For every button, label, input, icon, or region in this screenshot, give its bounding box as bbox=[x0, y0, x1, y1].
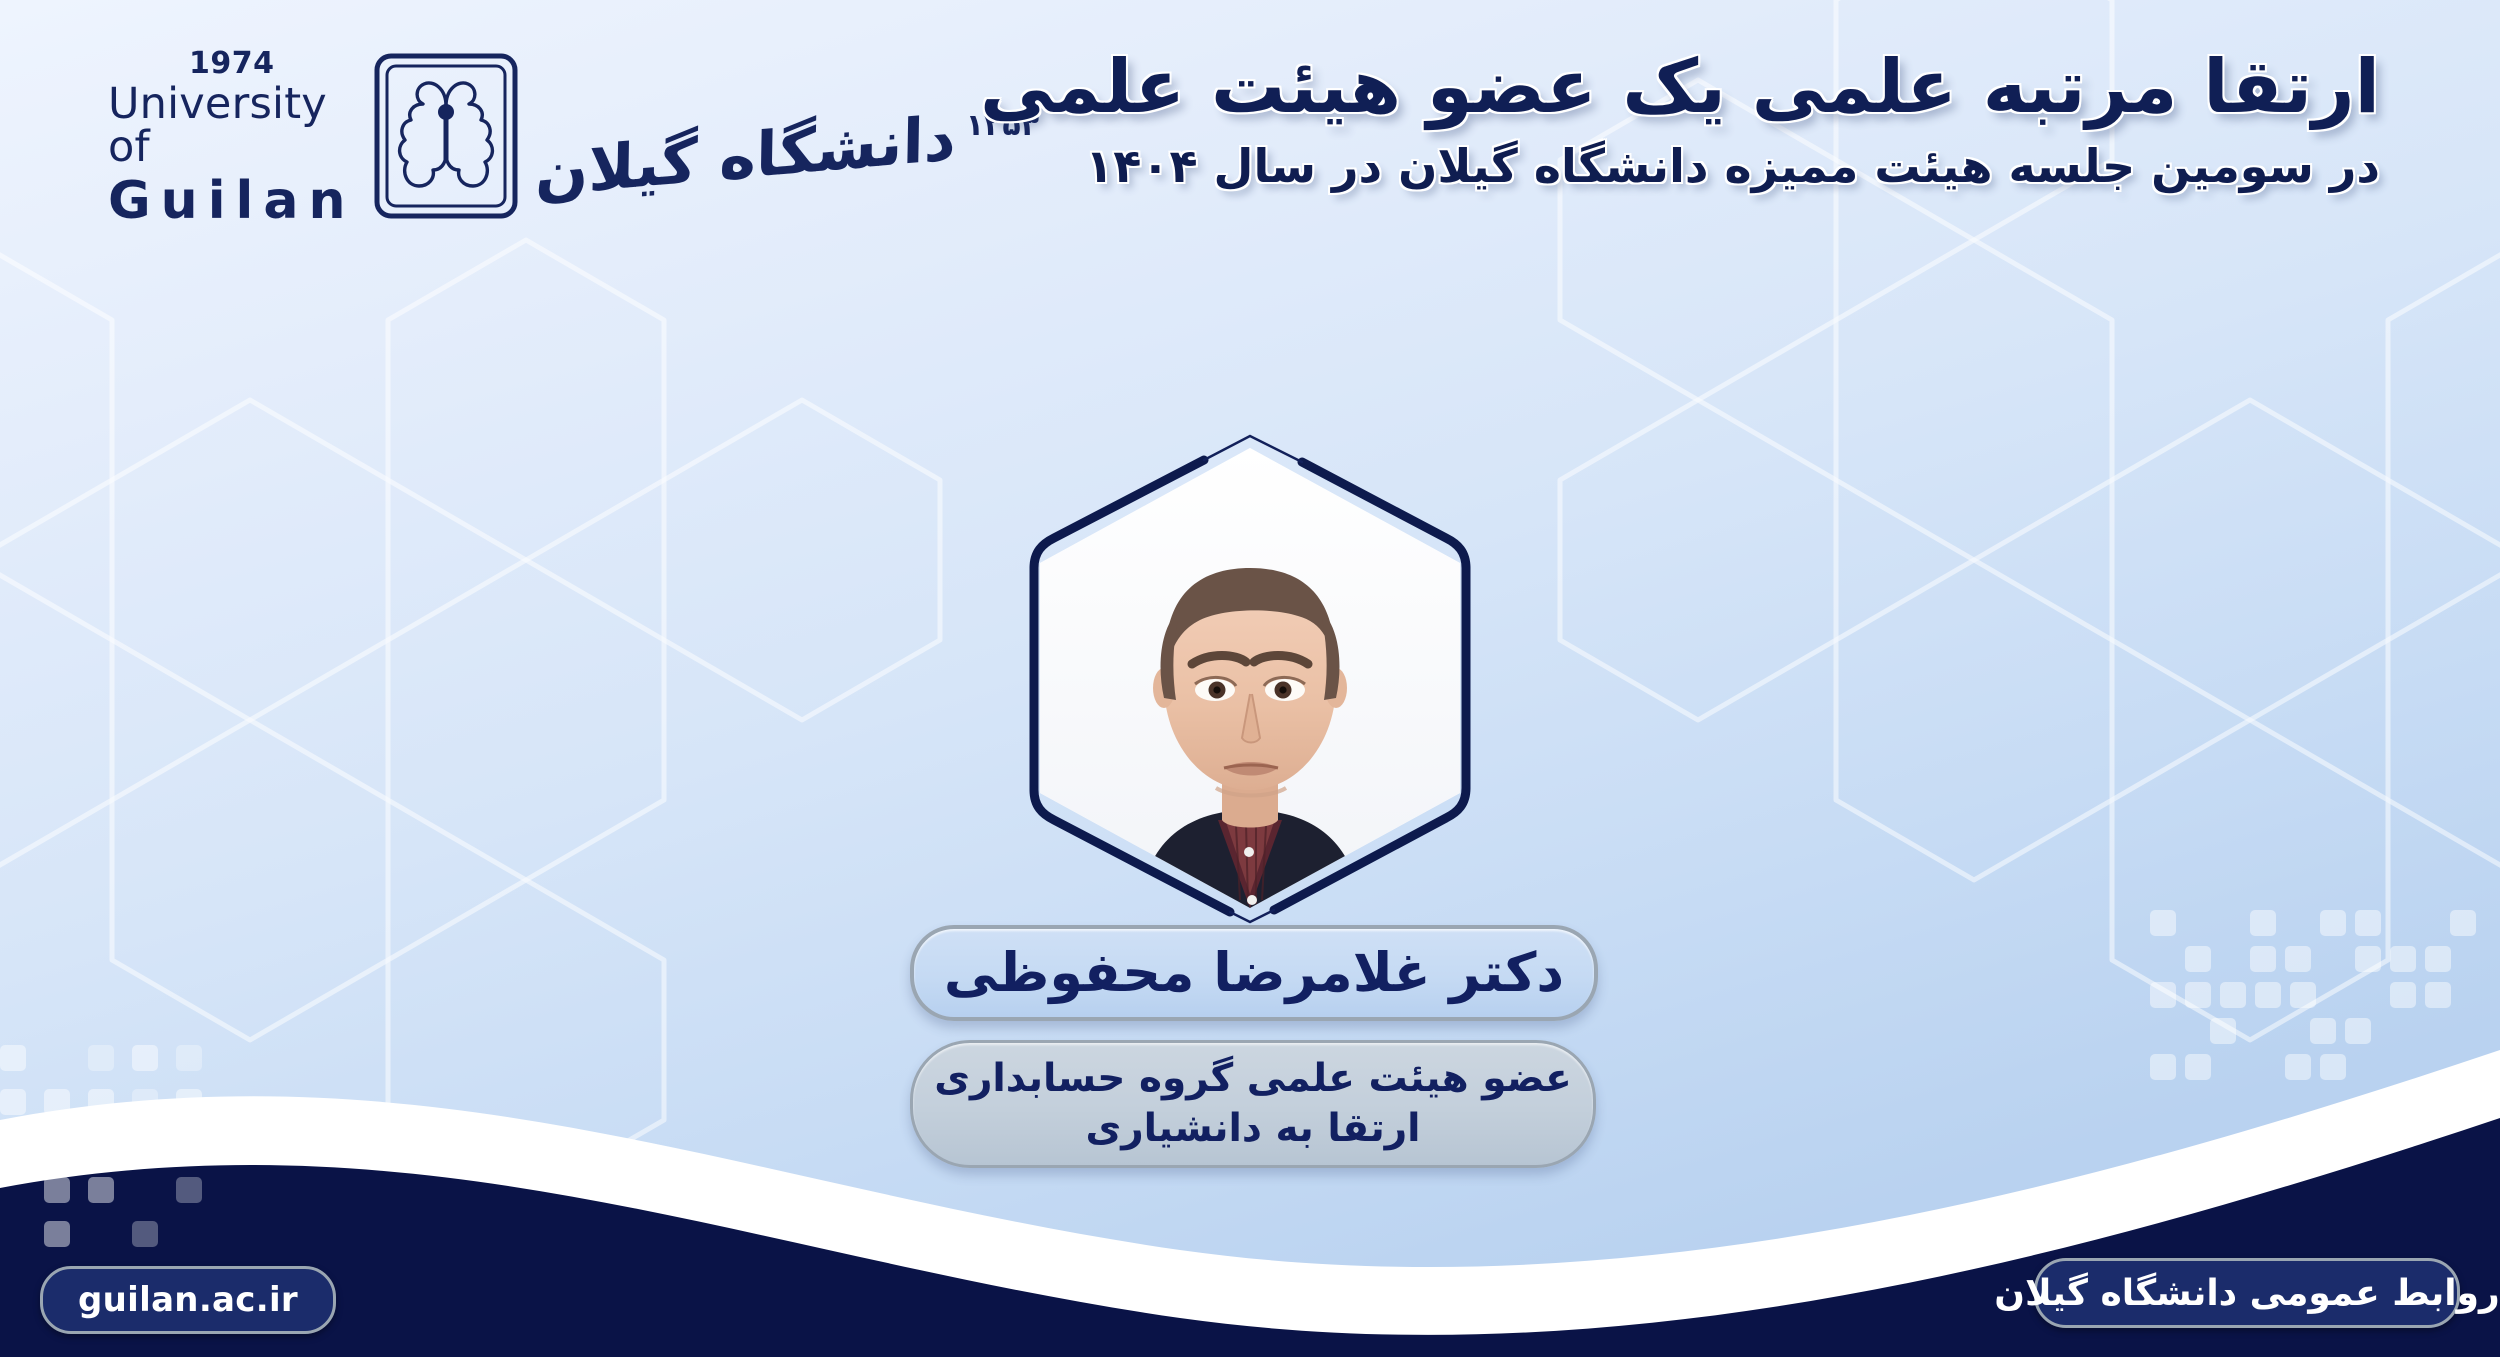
logo-university-word: University of bbox=[108, 83, 355, 169]
logo-guilan-word: Guilan bbox=[108, 175, 355, 227]
university-logo: 1974 University of Guilan ۱۳۵۳ دانشگاه گ… bbox=[108, 48, 808, 228]
guilan-emblem-icon bbox=[371, 50, 521, 226]
public-relations-label: روابط عمومی دانشگاه گیلان bbox=[1994, 1273, 2499, 1314]
poster-canvas: 1974 University of Guilan ۱۳۵۳ دانشگاه گ… bbox=[0, 0, 2500, 1357]
public-relations-pill: روابط عمومی دانشگاه گیلان bbox=[2034, 1258, 2460, 1328]
square-grid-right bbox=[2150, 910, 2500, 1200]
person-name: دکتر غلامرضا محفوظی bbox=[944, 946, 1564, 1000]
person-name-badge: دکتر غلامرضا محفوظی bbox=[910, 925, 1598, 1021]
person-role-badge: عضو هیئت علمی گروه حسابداری ارتقا به دان… bbox=[910, 1040, 1596, 1168]
page-title: ارتقا مرتبه علمی یک عضو هیئت علمی bbox=[980, 44, 2380, 131]
person-role-line-2: ارتقا به دانشیاری bbox=[1085, 1104, 1420, 1154]
logo-persian-block: ۱۳۵۳ دانشگاه گیلان bbox=[537, 107, 1045, 169]
website-pill[interactable]: guilan.ac.ir bbox=[40, 1266, 336, 1334]
square-grid-left bbox=[0, 1015, 420, 1265]
headline-block: ارتقا مرتبه علمی یک عضو هیئت علمی در سوم… bbox=[980, 44, 2380, 195]
portrait-frame bbox=[1016, 428, 1484, 928]
logo-year-en: 1974 bbox=[189, 49, 275, 79]
logo-name-fa: دانشگاه گیلان bbox=[535, 107, 957, 205]
hexagon-outline bbox=[1016, 428, 1484, 928]
page-subtitle: در سومین جلسه هیئت ممیزه دانشگاه گیلان د… bbox=[980, 139, 2380, 194]
person-role-line-1: عضو هیئت علمی گروه حسابداری bbox=[934, 1054, 1572, 1104]
website-url: guilan.ac.ir bbox=[78, 1280, 298, 1320]
logo-english-block: 1974 University of Guilan bbox=[108, 49, 355, 227]
